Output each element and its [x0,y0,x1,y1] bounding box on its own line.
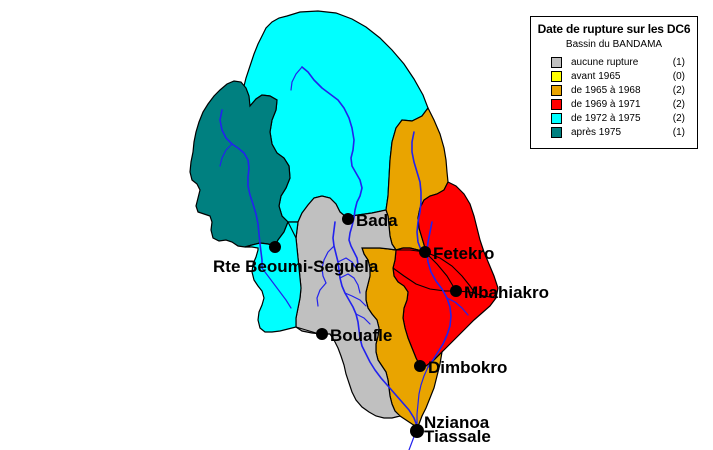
city-label-fetekro: Fetekro [433,244,494,263]
legend-swatch-avant-1965 [551,71,562,82]
city-label-bada: Bada [356,211,398,230]
city-dot-fetekro[interactable] [419,246,431,258]
map-application: Bada Rte Beoumi-Seguela Fetekro Mbahiakr… [0,0,713,450]
legend-swatch-apres-1975 [551,127,562,138]
legend-count-1965-1968: (2) [673,85,691,96]
legend-item-avant-1965[interactable]: avant 1965 (0) [551,70,691,83]
city-dot-bada[interactable] [342,213,354,225]
legend-swatch-1965-1968 [551,85,562,96]
legend-count-avant-1965: (0) [673,71,691,82]
legend-item-1965-1968[interactable]: de 1965 à 1968 (2) [551,84,691,97]
legend-subtitle: Bassin du BANDAMA [537,39,691,51]
legend-label-aucune-rupture: aucune rupture [571,57,673,68]
city-dot-bouafle[interactable] [316,328,328,340]
legend-item-apres-1975[interactable]: après 1975 (1) [551,126,691,139]
city-label-dimbokro: Dimbokro [428,358,507,377]
legend-label-1969-1971: de 1969 à 1971 [571,99,673,110]
legend-label-1965-1968: de 1965 à 1968 [571,85,673,96]
region-west-teal[interactable] [190,81,290,247]
legend-label-1972-1975: de 1972 à 1975 [571,113,673,124]
city-dot-rte-beoumi-seguela[interactable] [269,241,281,253]
city-label-tiassale: Tiassale [424,427,491,446]
city-label-mbahiakro: Mbahiakro [464,283,549,302]
legend-label-apres-1975: après 1975 [571,127,673,138]
city-label-bouafle: Bouafle [330,326,392,345]
legend-count-1969-1971: (2) [673,99,691,110]
city-dot-dimbokro[interactable] [414,360,426,372]
legend-count-1972-1975: (2) [673,113,691,124]
city-dot-nzianoa[interactable] [410,424,424,438]
legend-swatch-aucune-rupture [551,57,562,68]
legend-count-apres-1975: (1) [673,127,691,138]
legend-item-1972-1975[interactable]: de 1972 à 1975 (2) [551,112,691,125]
map-legend: Date de rupture sur les DC6 Bassin du BA… [530,16,698,149]
city-label-rte-beoumi-seguela: Rte Beoumi-Seguela [213,257,379,276]
legend-item-1969-1971[interactable]: de 1969 à 1971 (2) [551,98,691,111]
legend-label-avant-1965: avant 1965 [571,71,673,82]
legend-swatch-1972-1975 [551,113,562,124]
legend-item-aucune-rupture[interactable]: aucune rupture (1) [551,56,691,69]
legend-count-aucune-rupture: (1) [673,57,691,68]
legend-title: Date de rupture sur les DC6 [537,22,691,36]
city-dot-mbahiakro[interactable] [450,285,462,297]
legend-swatch-1969-1971 [551,99,562,110]
